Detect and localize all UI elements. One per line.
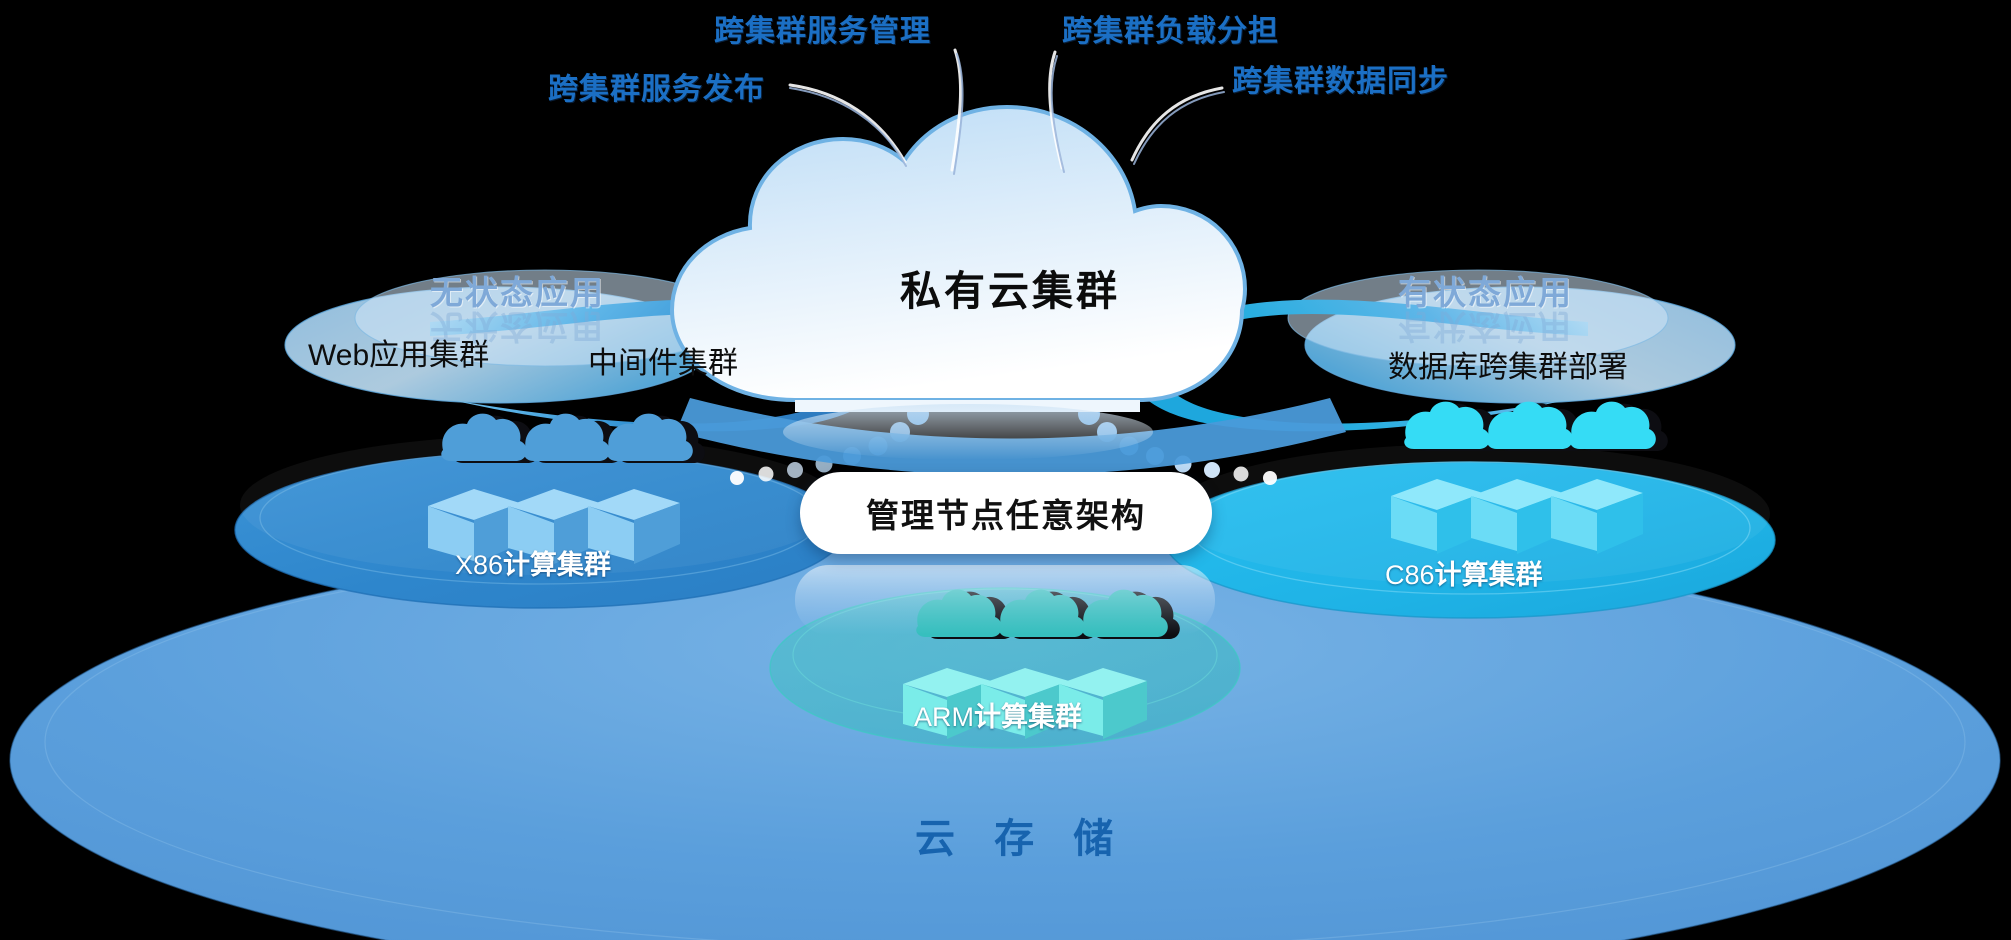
management-node-label: 管理节点任意架构 — [866, 489, 1146, 537]
diagram-graphics — [0, 0, 2011, 940]
cloud-icon — [441, 414, 539, 463]
cloud-icon — [1404, 402, 1502, 451]
stateless-app-group — [285, 270, 735, 403]
pill-reflection — [795, 565, 1215, 635]
cloud-icon — [1570, 402, 1668, 451]
stateful-app-group — [1288, 270, 1735, 403]
cloud-icon — [1487, 402, 1585, 451]
diagram-canvas: 跨集群服务发布 跨集群服务管理 跨集群负载分担 跨集群数据同步 私有云集群 无状… — [0, 0, 2011, 940]
management-node-pill[interactable]: 管理节点任意架构 — [800, 472, 1212, 554]
